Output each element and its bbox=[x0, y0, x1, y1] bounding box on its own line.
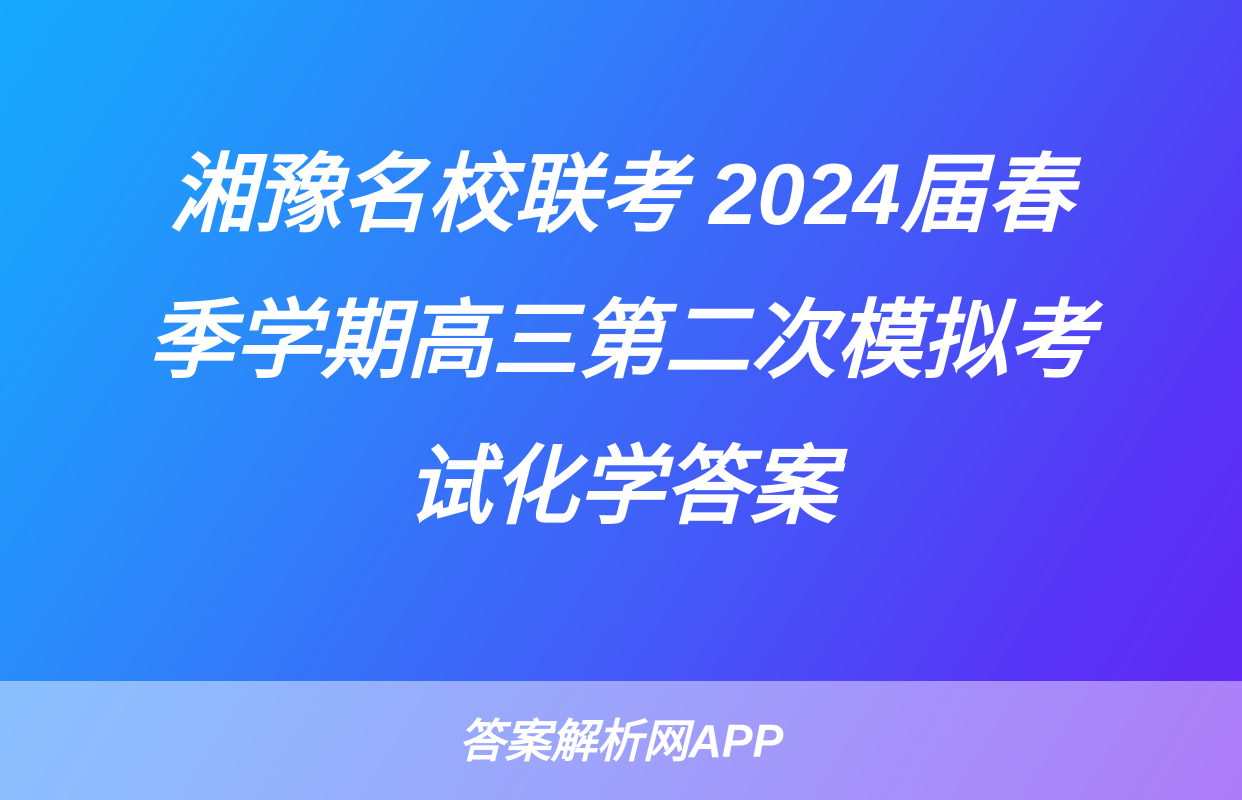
footer-band: 答案解析网APP bbox=[0, 681, 1242, 800]
poster-root: 湘豫名校联考 2024届春季学期高三第二次模拟考试化学答案 答案解析网APP bbox=[0, 0, 1242, 800]
page-title-line-2: 季学期高三第二次模拟考 bbox=[148, 293, 1094, 389]
hero-banner: 湘豫名校联考 2024届春季学期高三第二次模拟考试化学答案 bbox=[0, 0, 1242, 681]
page-title-line-3: 试化学答案 bbox=[406, 439, 836, 535]
page-title: 湘豫名校联考 2024届春季学期高三第二次模拟考试化学答案 bbox=[76, 122, 1166, 560]
page-title-line-1: 湘豫名校联考 2024届春 bbox=[169, 147, 1072, 243]
app-watermark-label: 答案解析网APP bbox=[459, 715, 784, 767]
